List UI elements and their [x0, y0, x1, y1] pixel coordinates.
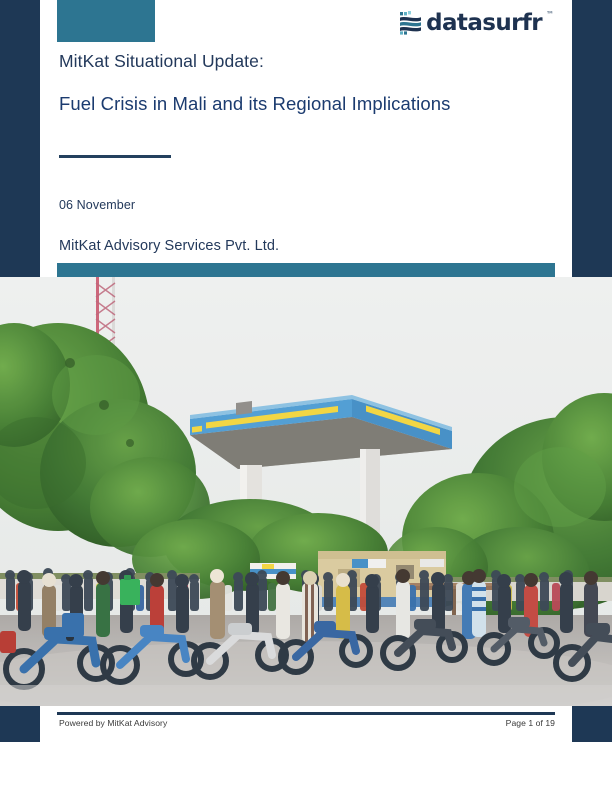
- footer-divider: [57, 712, 555, 715]
- title-block: MitKat Situational Update: Fuel Crisis i…: [59, 50, 555, 117]
- document-viewer: datasurfr ™ MitKat Situational Update: F…: [0, 0, 612, 790]
- hero-photo: [0, 277, 612, 706]
- logo-wordmark: datasurfr: [426, 12, 542, 35]
- brand-color-block: [57, 0, 155, 42]
- title-divider: [59, 155, 171, 158]
- page-title: Fuel Crisis in Mali and its Regional Imp…: [59, 92, 555, 117]
- accent-bar: [57, 263, 555, 277]
- report-organisation: MitKat Advisory Services Pvt. Ltd.: [59, 238, 279, 254]
- report-date: 06 November: [59, 198, 135, 212]
- datasurfr-logo: datasurfr ™: [400, 8, 554, 38]
- trademark-symbol: ™: [546, 10, 554, 19]
- wave-lines-icon: [400, 11, 422, 35]
- footer-credit: Powered by MitKat Advisory: [59, 718, 167, 728]
- report-kicker: MitKat Situational Update:: [59, 50, 555, 74]
- page-number-label: Page 1 of 19: [506, 718, 555, 728]
